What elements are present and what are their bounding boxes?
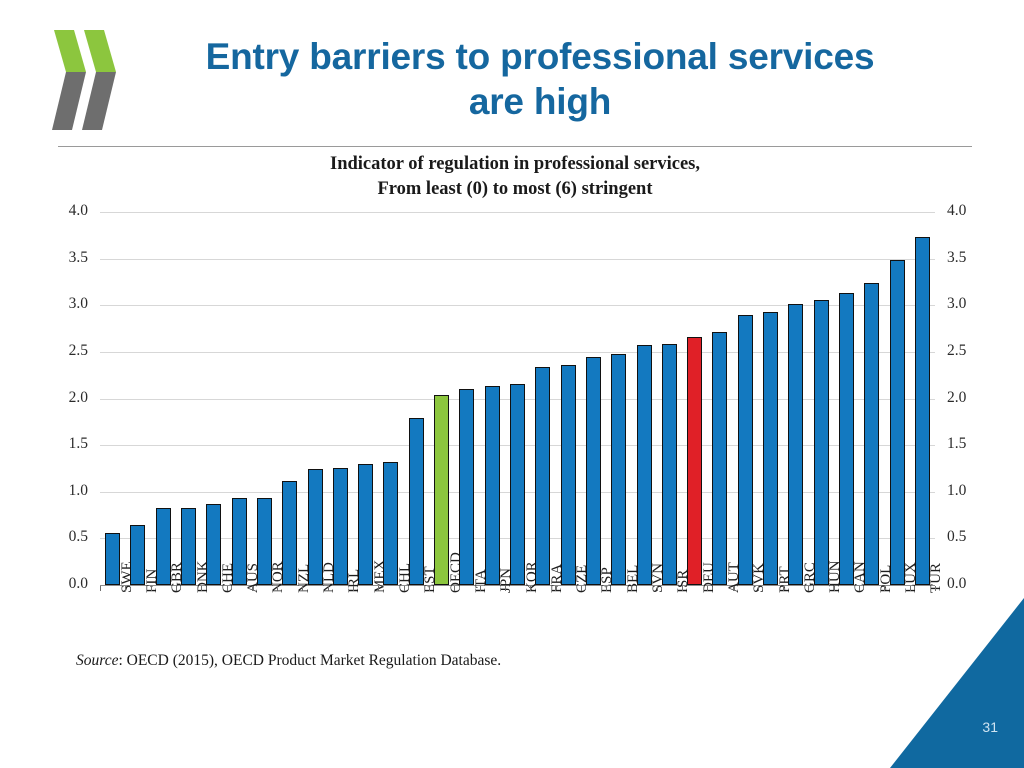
bar-prt[interactable] [763, 312, 778, 585]
y-axis-right-tick-label: 1.0 [947, 482, 993, 500]
x-axis-tick [707, 586, 708, 591]
y-axis-left-tick-label: 2.5 [42, 342, 88, 360]
x-axis-tick [353, 586, 354, 591]
gridline [100, 259, 935, 260]
x-axis-label-tur: TUR [928, 563, 945, 593]
x-axis-tick [454, 586, 455, 591]
y-axis-left-tick-label: 1.0 [42, 482, 88, 500]
bar-irl[interactable] [333, 468, 348, 585]
x-axis-tick [783, 586, 784, 591]
y-axis-right-tick-label: 1.5 [947, 435, 993, 453]
source-note: Source: OECD (2015), OECD Product Market… [76, 652, 501, 670]
bar-kor[interactable] [510, 384, 525, 585]
x-axis-tick [834, 586, 835, 591]
bar-ita[interactable] [459, 389, 474, 585]
x-axis-tick [201, 586, 202, 591]
bar-mex[interactable] [358, 464, 373, 585]
x-axis-tick [100, 586, 101, 591]
gridline [100, 352, 935, 353]
bar-esp[interactable] [586, 357, 601, 585]
y-axis-right-tick-label: 0.0 [947, 575, 993, 593]
x-axis-tick [151, 586, 152, 591]
bar-tur[interactable] [915, 237, 930, 585]
x-axis-tick [328, 586, 329, 591]
bar-chl[interactable] [383, 462, 398, 585]
bar-svk[interactable] [738, 315, 753, 585]
bar-lux[interactable] [890, 260, 905, 585]
y-axis-left-tick-label: 2.0 [42, 389, 88, 407]
x-axis-tick [555, 586, 556, 591]
bar-fin[interactable] [130, 525, 145, 585]
bar-aut[interactable] [712, 332, 727, 585]
x-axis-tick [378, 586, 379, 591]
x-axis-tick [631, 586, 632, 591]
y-axis-left-tick-label: 0.0 [42, 575, 88, 593]
bar-est[interactable] [409, 418, 424, 585]
x-axis-tick [176, 586, 177, 591]
x-axis-tick [606, 586, 607, 591]
bar-jpn[interactable] [485, 386, 500, 585]
source-text: : OECD (2015), OECD Product Market Regul… [118, 652, 501, 669]
y-axis-left-tick-label: 0.5 [42, 528, 88, 546]
y-axis-left-tick-label: 1.5 [42, 435, 88, 453]
bar-isr[interactable] [662, 344, 677, 585]
bar-dnk[interactable] [181, 508, 196, 585]
page-number: 31 [982, 719, 998, 735]
x-axis-tick [429, 586, 430, 591]
x-axis-tick [404, 586, 405, 591]
slide: Entry barriers to professional services … [0, 0, 1024, 768]
x-axis-tick [581, 586, 582, 591]
x-axis-tick [733, 586, 734, 591]
x-axis-tick [125, 586, 126, 591]
y-axis-right-tick-label: 2.0 [947, 389, 993, 407]
x-axis-tick [252, 586, 253, 591]
bar-oecd[interactable] [434, 395, 449, 585]
x-axis-tick [657, 586, 658, 591]
y-axis-left-tick-label: 4.0 [42, 202, 88, 220]
x-axis-tick [682, 586, 683, 591]
x-axis-tick [505, 586, 506, 591]
y-axis-left-tick-label: 3.0 [42, 295, 88, 313]
x-axis-tick [859, 586, 860, 591]
y-axis-left-tick-label: 3.5 [42, 249, 88, 267]
x-axis-tick [277, 586, 278, 591]
bar-nzl[interactable] [282, 481, 297, 585]
x-axis-tick [227, 586, 228, 591]
y-axis-right-tick-label: 4.0 [947, 202, 993, 220]
bar-pol[interactable] [864, 283, 879, 585]
x-axis-tick [758, 586, 759, 591]
bar-che[interactable] [206, 504, 221, 585]
y-axis-right-tick-label: 3.5 [947, 249, 993, 267]
gridline [100, 212, 935, 213]
source-label: Source [76, 652, 118, 669]
bar-grc[interactable] [788, 304, 803, 585]
bar-cze[interactable] [561, 365, 576, 585]
bar-bel[interactable] [611, 354, 626, 585]
x-axis-tick [480, 586, 481, 591]
bar-can[interactable] [839, 293, 854, 585]
x-axis-tick [530, 586, 531, 591]
bar-deu[interactable] [687, 337, 702, 585]
bar-fra[interactable] [535, 367, 550, 585]
x-axis-tick [910, 586, 911, 591]
y-axis-right-tick-label: 3.0 [947, 295, 993, 313]
bar-svn[interactable] [637, 345, 652, 585]
x-axis-tick [935, 586, 936, 591]
y-axis-right-tick-label: 0.5 [947, 528, 993, 546]
gridline [100, 305, 935, 306]
bar-hun[interactable] [814, 300, 829, 585]
bar-swe[interactable] [105, 533, 120, 585]
x-axis-tick [884, 586, 885, 591]
y-axis-right-tick-label: 2.5 [947, 342, 993, 360]
x-axis-tick [302, 586, 303, 591]
x-axis-tick [808, 586, 809, 591]
